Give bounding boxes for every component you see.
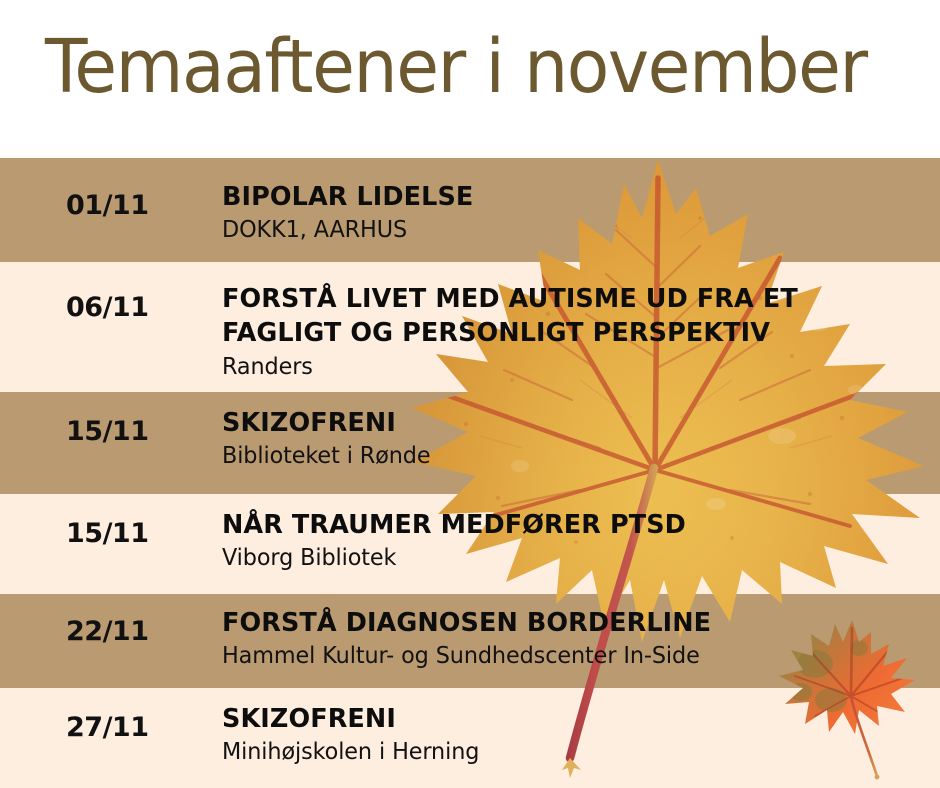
row-heading: NÅR TRAUMER MEDFØRER PTSD bbox=[222, 508, 916, 542]
schedule-row: 15/11NÅR TRAUMER MEDFØRER PTSDViborg Bib… bbox=[0, 494, 940, 594]
schedule-row: 22/11FORSTÅ DIAGNOSEN BORDERLINEHammel K… bbox=[0, 594, 940, 688]
row-date: 06/11 bbox=[66, 292, 149, 323]
row-date: 15/11 bbox=[66, 416, 149, 447]
title-banner: Temaaftener i november bbox=[0, 0, 940, 158]
row-venue: Biblioteket i Rønde bbox=[222, 442, 909, 472]
row-heading: BIPOLAR LIDELSE bbox=[222, 180, 916, 214]
schedule-row: 15/11SKIZOFRENIBiblioteket i Rønde bbox=[0, 392, 940, 494]
row-heading: SKIZOFRENI bbox=[222, 702, 916, 736]
row-date: 01/11 bbox=[66, 190, 149, 221]
row-heading: SKIZOFRENI bbox=[222, 406, 916, 440]
row-text-block: NÅR TRAUMER MEDFØRER PTSDViborg Bibliote… bbox=[222, 508, 930, 574]
schedule-row: 27/11SKIZOFRENIMinihøjskolen i Herning bbox=[0, 688, 940, 788]
row-text-block: BIPOLAR LIDELSEDOKK1, AARHUS bbox=[222, 180, 930, 246]
row-text-block: SKIZOFRENIBiblioteket i Rønde bbox=[222, 406, 930, 472]
row-date: 22/11 bbox=[66, 616, 149, 647]
row-date: 15/11 bbox=[66, 518, 149, 549]
row-text-block: FORSTÅ LIVET MED AUTISME UD FRA ET FAGLI… bbox=[222, 282, 930, 383]
schedule-row: 01/11BIPOLAR LIDELSEDOKK1, AARHUS bbox=[0, 158, 940, 262]
row-heading: FORSTÅ LIVET MED AUTISME UD FRA ET FAGLI… bbox=[222, 282, 916, 351]
row-text-block: SKIZOFRENIMinihøjskolen i Herning bbox=[222, 702, 930, 768]
schedule-row: 06/11FORSTÅ LIVET MED AUTISME UD FRA ET … bbox=[0, 262, 940, 392]
row-heading: FORSTÅ DIAGNOSEN BORDERLINE bbox=[222, 606, 916, 640]
row-text-block: FORSTÅ DIAGNOSEN BORDERLINEHammel Kultur… bbox=[222, 606, 930, 672]
row-venue: Viborg Bibliotek bbox=[222, 544, 909, 574]
row-date: 27/11 bbox=[66, 712, 149, 743]
row-venue: Minihøjskolen i Herning bbox=[222, 738, 909, 768]
row-venue: Hammel Kultur- og Sundhedscenter In-Side bbox=[222, 642, 909, 672]
row-venue: DOKK1, AARHUS bbox=[222, 216, 909, 246]
row-venue: Randers bbox=[222, 353, 909, 383]
poster-canvas: Temaaftener i november 01/11BIPOLAR LIDE… bbox=[0, 0, 940, 788]
page-title: Temaaftener i november bbox=[45, 24, 867, 110]
